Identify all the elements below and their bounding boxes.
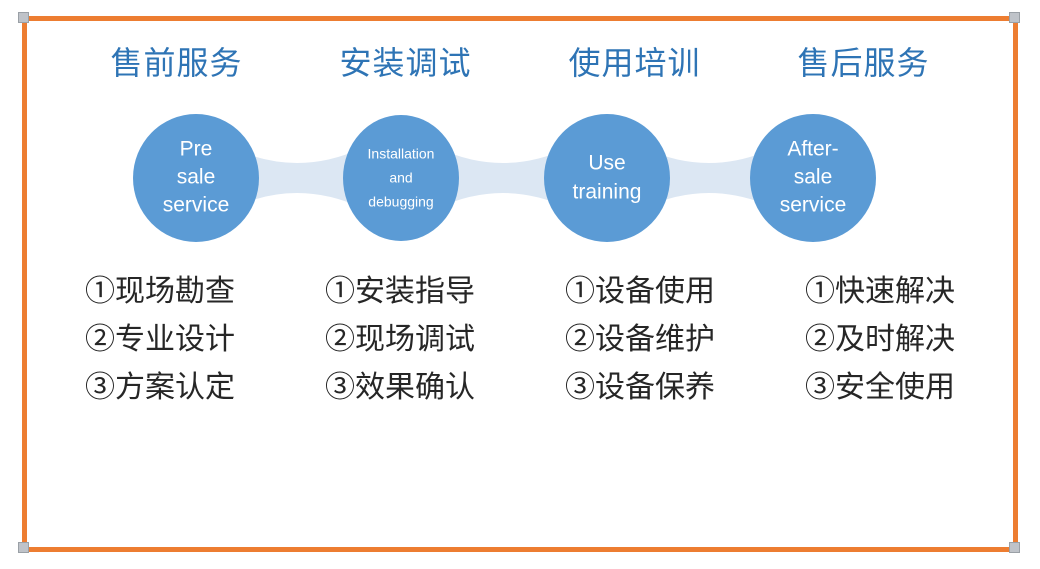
frame-border-top	[22, 16, 1018, 21]
resize-handle-bottom-right[interactable]	[1009, 542, 1020, 553]
node-circle-3[interactable]	[544, 114, 670, 242]
detail-item: ②及时解决	[760, 316, 1000, 364]
node-2-line-3: debugging	[368, 194, 433, 210]
resize-handle-bottom-left[interactable]	[18, 542, 29, 553]
detail-item: ③设备保养	[520, 364, 760, 412]
detail-item: ①安装指导	[280, 268, 520, 316]
stage-heading-4: 售后服务	[749, 40, 978, 92]
detail-item: ③效果确认	[280, 364, 520, 412]
node-use-training: Use training	[544, 114, 670, 242]
detail-item: ③安全使用	[760, 364, 1000, 412]
node-1-line-1: Pre	[180, 138, 213, 161]
detail-item: ②专业设计	[40, 316, 280, 364]
detail-column-2: ①安装指导 ②现场调试 ③效果确认	[280, 268, 520, 418]
detail-column-4: ①快速解决 ②及时解决 ③安全使用	[760, 268, 1000, 418]
detail-column-3: ①设备使用 ②设备维护 ③设备保养	[520, 268, 760, 418]
frame-border-left	[22, 16, 27, 552]
detail-item: ②设备维护	[520, 316, 760, 364]
node-3-line-1: Use	[588, 152, 625, 175]
node-installation-and-debugging: Installation and debugging	[343, 115, 459, 241]
node-2-line-1: Installation	[368, 146, 435, 162]
stage-heading-2: 安装调试	[291, 40, 520, 92]
detail-item: ①现场勘查	[40, 268, 280, 316]
node-4-line-3: service	[780, 194, 847, 217]
node-1-line-2: sale	[177, 166, 216, 189]
detail-item: ③方案认定	[40, 364, 280, 412]
connector-group	[232, 148, 774, 208]
resize-handle-top-left[interactable]	[18, 12, 29, 23]
node-4-line-2: sale	[794, 166, 833, 189]
process-diagram: Pre sale service Installation and debugg…	[62, 104, 978, 252]
detail-item: ①设备使用	[520, 268, 760, 316]
node-pre-sale-service: Pre sale service	[133, 114, 259, 242]
node-4-line-1: After-	[787, 138, 838, 161]
slide-canvas: 售前服务 安装调试 使用培训 售后服务 Pre sale service Ins…	[0, 0, 1040, 569]
node-1-line-3: service	[163, 194, 230, 217]
node-3-line-2: training	[573, 181, 642, 204]
stage-headings-row: 售前服务 安装调试 使用培训 售后服务	[62, 40, 978, 92]
detail-columns: ①现场勘查 ②专业设计 ③方案认定 ①安装指导 ②现场调试 ③效果确认 ①设备使…	[40, 268, 1000, 418]
stage-heading-3: 使用培训	[520, 40, 749, 92]
stage-heading-1: 售前服务	[62, 40, 291, 92]
detail-item: ②现场调试	[280, 316, 520, 364]
frame-border-bottom	[22, 547, 1018, 552]
resize-handle-top-right[interactable]	[1009, 12, 1020, 23]
detail-column-1: ①现场勘查 ②专业设计 ③方案认定	[40, 268, 280, 418]
frame-border-right	[1013, 16, 1018, 552]
node-2-line-2: and	[389, 170, 412, 186]
detail-item: ①快速解决	[760, 268, 1000, 316]
node-after-sale-service: After- sale service	[750, 114, 876, 242]
